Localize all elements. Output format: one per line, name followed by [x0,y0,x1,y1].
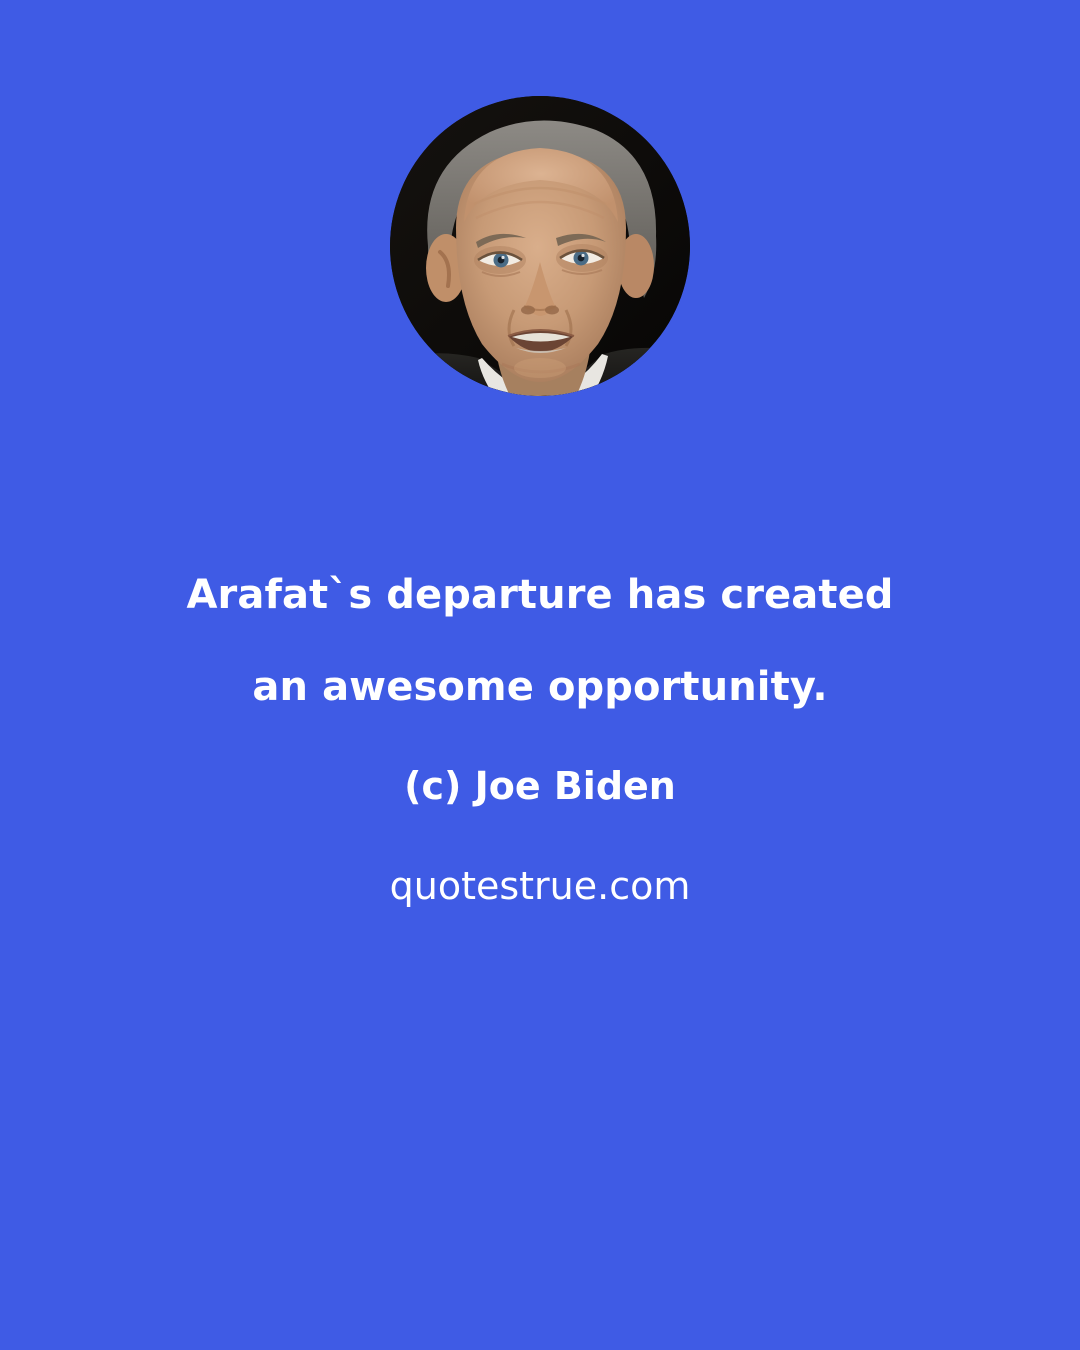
quote-line-2: an awesome opportunity. [0,667,1080,767]
source-website[interactable]: quotestrue.com [0,867,1080,905]
portrait-avatar [390,96,690,396]
quote-line-1: Arafat`s departure has created [0,575,1080,667]
quote-attribution: (c) Joe Biden [0,767,1080,867]
quote-card: Arafat`s departure has created an awesom… [0,0,1080,1350]
quote-text-block: Arafat`s departure has created an awesom… [0,575,1080,905]
portrait-photo [390,96,690,396]
